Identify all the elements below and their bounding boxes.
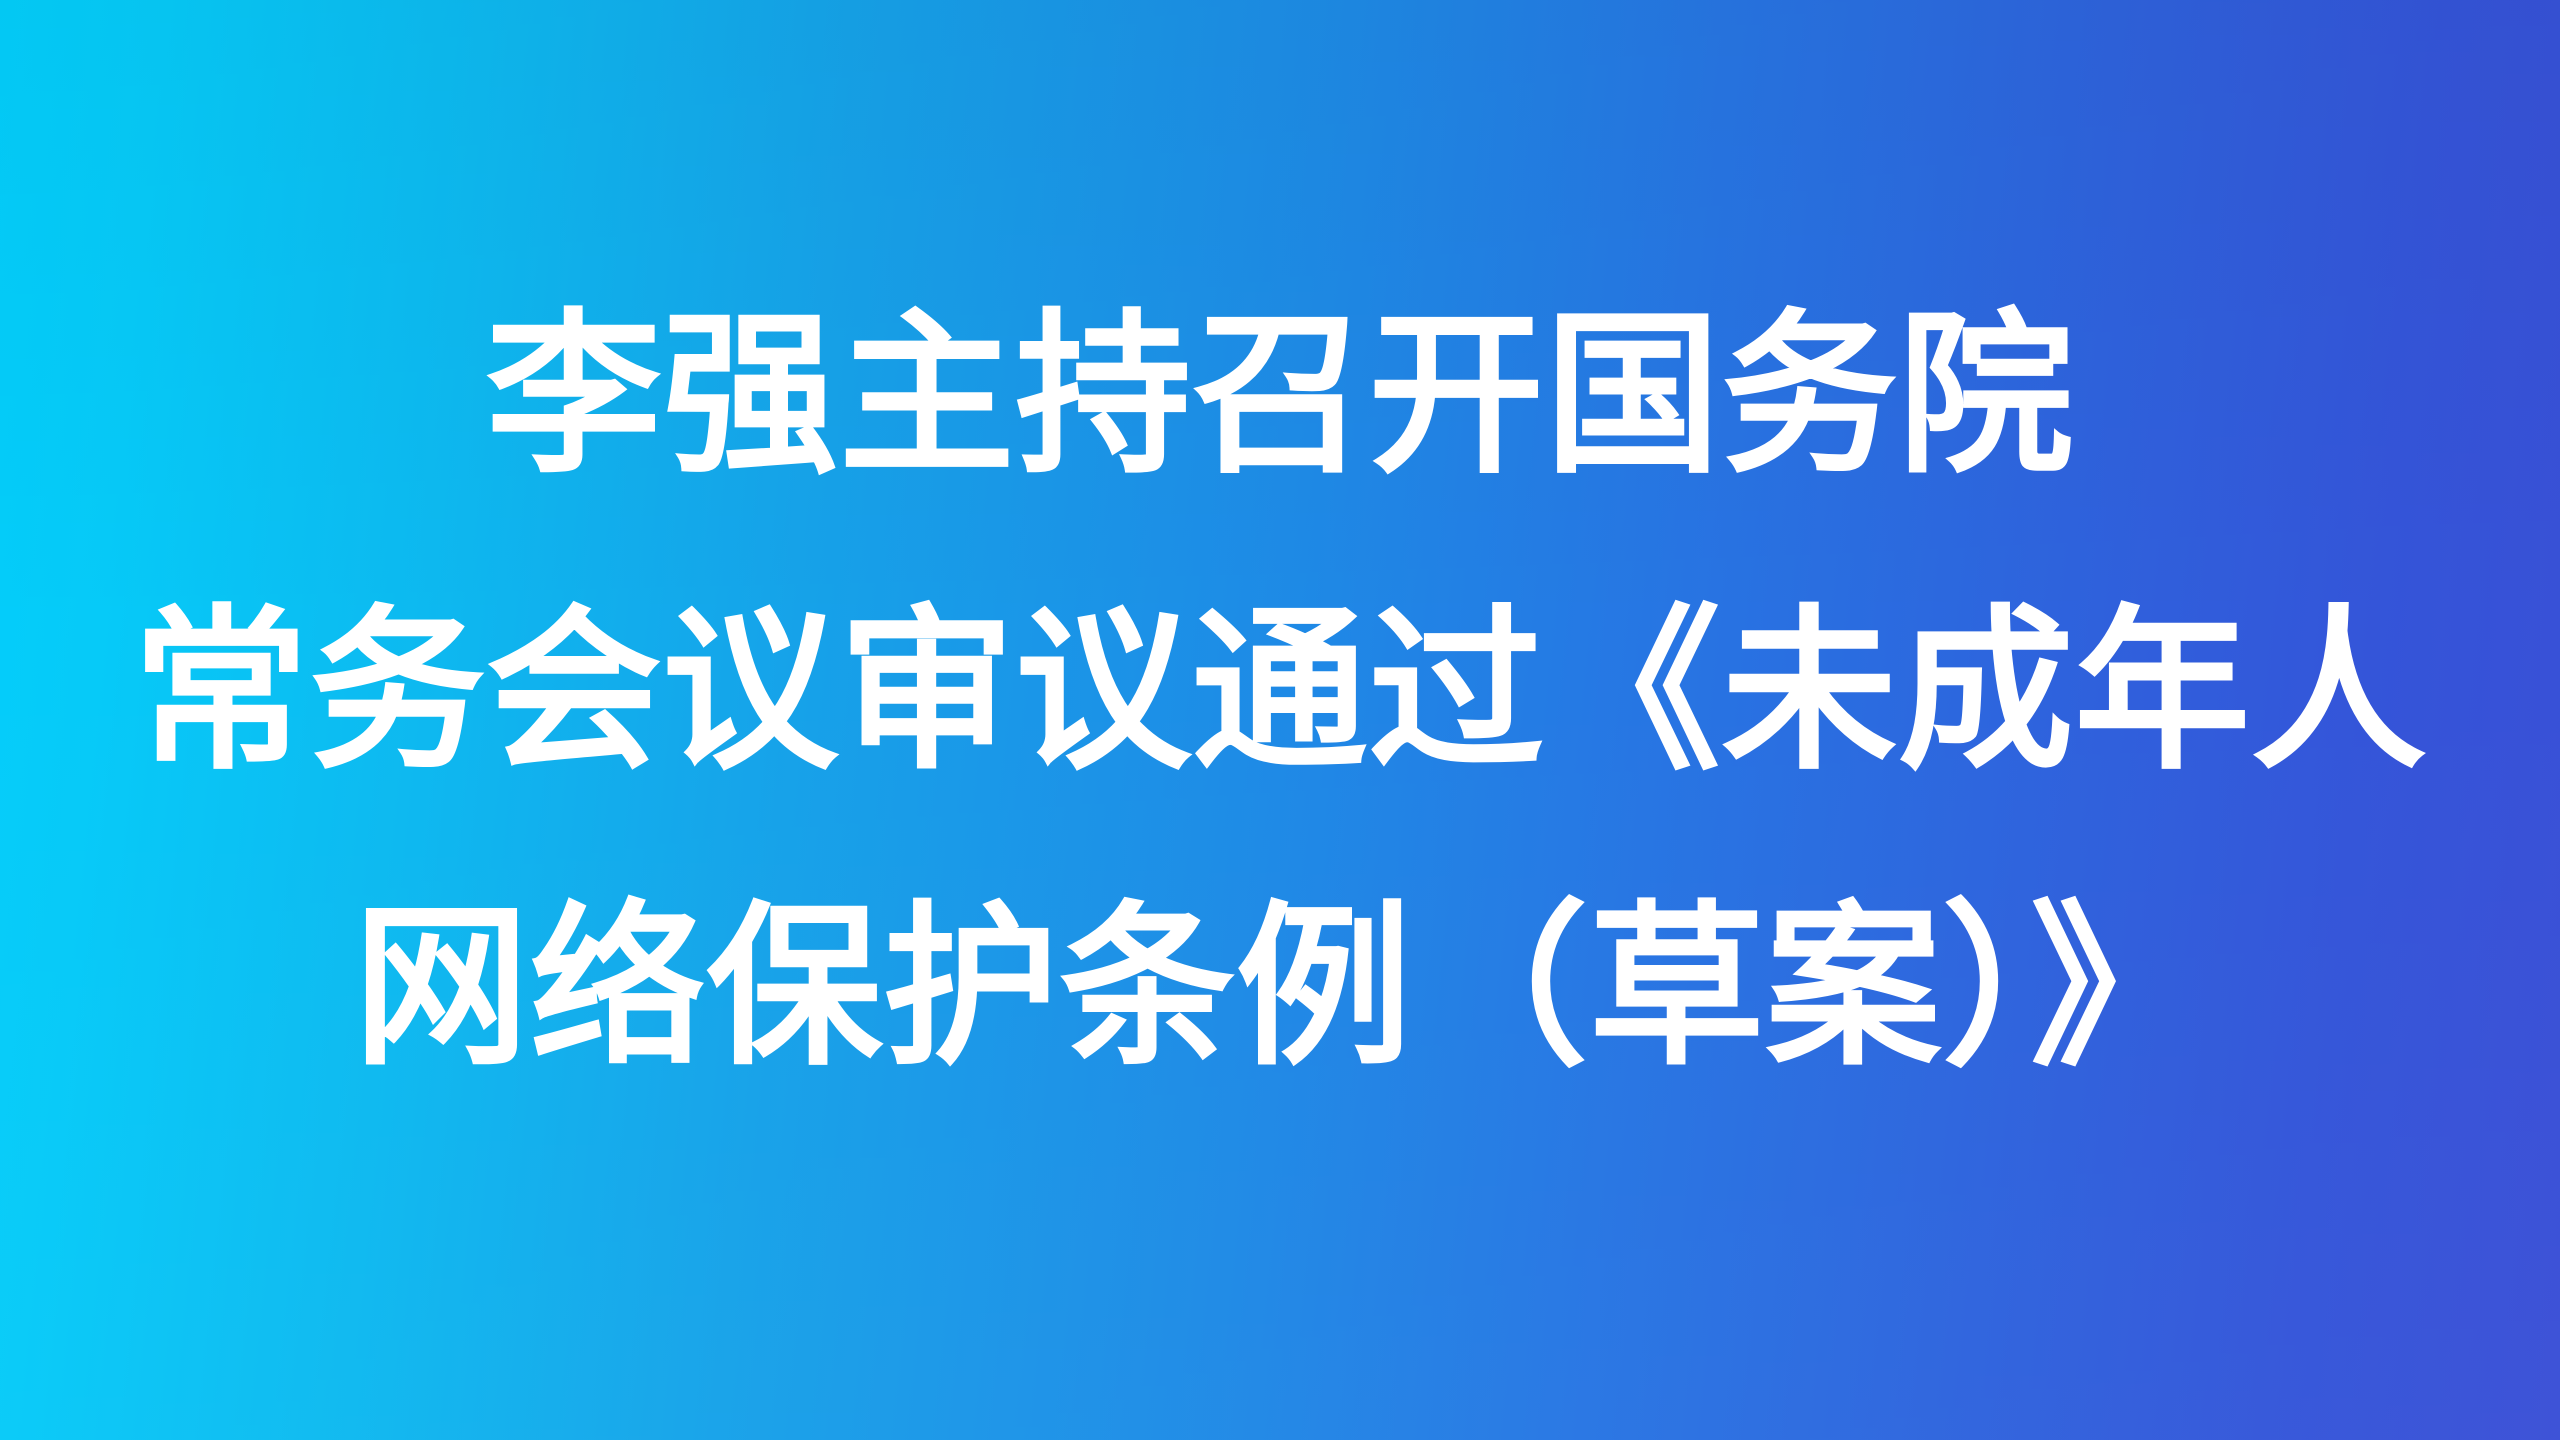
headline-line-2: 常务会议审议通过《未成年人 <box>0 544 2560 840</box>
headline-line-3: 网络保护条例（草案）》 <box>0 840 2560 1136</box>
headline-line-1: 李强主持召开国务院 <box>0 248 2560 544</box>
headline-block: 李强主持召开国务院 常务会议审议通过《未成年人 网络保护条例（草案）》 <box>0 248 2560 1136</box>
news-title-poster: 李强主持召开国务院 常务会议审议通过《未成年人 网络保护条例（草案）》 <box>0 0 2560 1440</box>
